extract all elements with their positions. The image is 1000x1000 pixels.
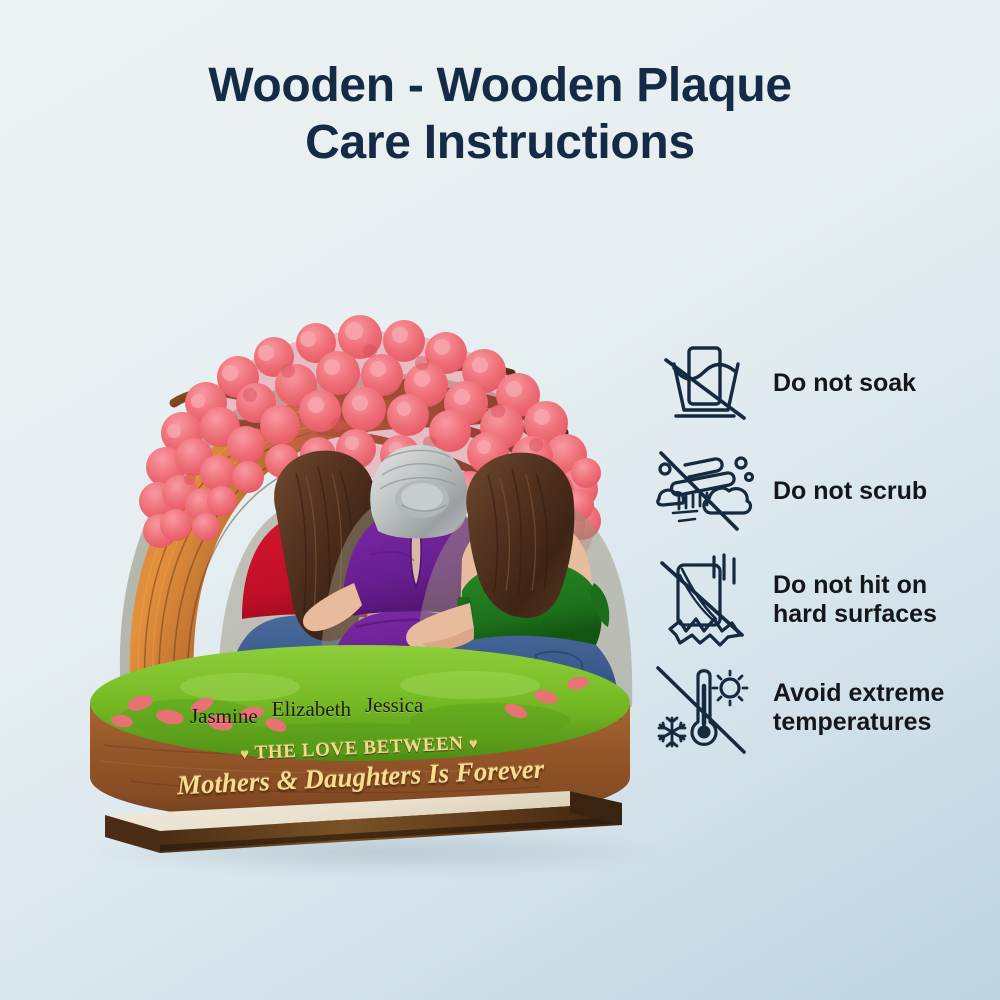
page-title-line2: Care Instructions <box>0 115 1000 172</box>
page-title-line1: Wooden - Wooden Plaque <box>0 58 1000 115</box>
care-label-do-not-scrub: Do not scrub <box>763 477 927 507</box>
care-instruction-list: Do not soak <box>645 330 985 762</box>
care-label-do-not-soak: Do not soak <box>763 369 916 399</box>
heart-icon-right: ♥ <box>469 737 479 753</box>
care-item-do-not-hit: Do not hit on hard surfaces <box>645 546 985 654</box>
no-soak-icon <box>645 338 763 430</box>
care-instructions-page: Wooden - Wooden Plaque Care Instructions <box>0 0 1000 1000</box>
page-title: Wooden - Wooden Plaque Care Instructions <box>0 58 1000 171</box>
no-hit-hard-surface-icon <box>645 551 763 649</box>
care-item-do-not-soak: Do not soak <box>645 330 985 438</box>
name-label-jessica: Jessica <box>365 693 423 718</box>
avoid-extreme-temperatures-icon <box>645 660 763 756</box>
name-label-elizabeth: Elizabeth <box>272 697 351 722</box>
care-label-do-not-hit-line1: Do not hit on <box>773 571 937 601</box>
care-item-avoid-extreme-temperatures: Avoid extreme temperatures <box>645 654 985 762</box>
heart-icon-left: ♥ <box>240 747 250 763</box>
name-label-jasmine: Jasmine <box>190 704 258 729</box>
care-label-do-not-hit: Do not hit on hard surfaces <box>763 571 937 630</box>
no-scrub-icon <box>645 451 763 533</box>
care-item-do-not-scrub: Do not scrub <box>645 438 985 546</box>
care-label-temp-line2: temperatures <box>773 708 944 738</box>
care-label-do-not-hit-line2: hard surfaces <box>773 600 937 630</box>
care-label-avoid-extreme-temperatures: Avoid extreme temperatures <box>763 679 944 738</box>
figure-name-labels: Jasmine Elizabeth Jessica <box>190 696 520 729</box>
care-label-temp-line1: Avoid extreme <box>773 679 944 709</box>
